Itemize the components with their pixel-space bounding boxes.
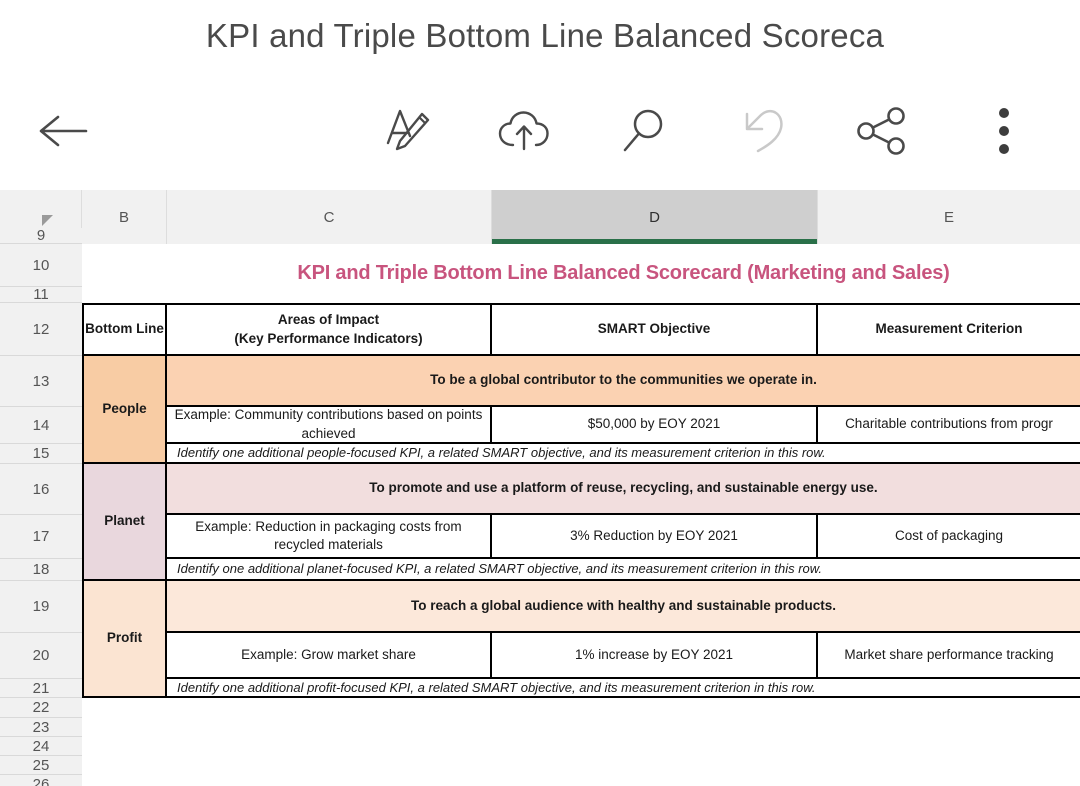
header-areas-of-impact[interactable]: Areas of Impact (Key Performance Indicat… [167, 303, 492, 356]
row-header-22[interactable]: 22 [0, 698, 82, 718]
row-header-14[interactable]: 14 [0, 407, 82, 444]
edit-text-icon [383, 105, 433, 157]
row-header-10[interactable]: 10 [0, 244, 82, 287]
kpi-planet[interactable]: Example: Reduction in packaging costs fr… [167, 515, 492, 559]
row-header-23[interactable]: 23 [0, 718, 82, 737]
toolbar [0, 72, 1080, 190]
column-header-e[interactable]: E [818, 190, 1080, 244]
select-all-triangle-icon [42, 215, 53, 226]
objective-profit[interactable]: To reach a global audience with healthy … [167, 581, 1080, 633]
note-planet[interactable]: Identify one additional planet-focused K… [167, 559, 1080, 581]
row-header-13[interactable]: 13 [0, 356, 82, 407]
header-bottom-line[interactable]: Bottom Line [82, 303, 167, 356]
cloud-upload-icon [496, 107, 552, 155]
row-header-column: 9 10 11 12 13 14 15 16 17 18 19 20 21 22… [0, 244, 82, 786]
smart-planet[interactable]: 3% Reduction by EOY 2021 [492, 515, 818, 559]
row-header-17[interactable]: 17 [0, 515, 82, 559]
more-options-icon [997, 106, 1011, 156]
scorecard-title[interactable]: KPI and Triple Bottom Line Balanced Scor… [167, 244, 1080, 303]
row-header-20[interactable]: 20 [0, 633, 82, 679]
undo-icon [741, 106, 789, 156]
edit-button[interactable] [365, 72, 451, 190]
category-planet[interactable]: Planet [82, 464, 167, 581]
note-profit[interactable]: Identify one additional profit-focused K… [167, 679, 1080, 698]
column-header-d[interactable]: D [492, 190, 818, 244]
row-header-11[interactable]: 11 [0, 287, 82, 303]
row-header-12[interactable]: 12 [0, 303, 82, 356]
row-header-18[interactable]: 18 [0, 559, 82, 581]
spreadsheet: B C D E 9 10 11 12 13 14 15 16 17 18 19 … [0, 190, 1080, 786]
row-header-24[interactable]: 24 [0, 737, 82, 756]
header-smart-objective[interactable]: SMART Objective [492, 303, 818, 356]
header-areas-line1: Areas of Impact [278, 311, 379, 329]
share-icon [856, 106, 908, 156]
row-header-19[interactable]: 19 [0, 581, 82, 633]
header-areas-line2: (Key Performance Indicators) [234, 330, 422, 348]
criterion-planet[interactable]: Cost of packaging [818, 515, 1080, 559]
column-header-c[interactable]: C [167, 190, 492, 244]
kpi-people[interactable]: Example: Community contributions based o… [167, 407, 492, 444]
back-arrow-icon [36, 111, 90, 151]
header-measurement-criterion[interactable]: Measurement Criterion [818, 303, 1080, 356]
criterion-profit[interactable]: Market share performance tracking [818, 633, 1080, 679]
more-options-button[interactable] [961, 72, 1047, 190]
search-button[interactable] [601, 72, 687, 190]
objective-planet[interactable]: To promote and use a platform of reuse, … [167, 464, 1080, 515]
category-people[interactable]: People [82, 356, 167, 464]
objective-people[interactable]: To be a global contributor to the commun… [167, 356, 1080, 407]
category-profit[interactable]: Profit [82, 581, 167, 698]
undo-button[interactable] [722, 72, 808, 190]
smart-profit[interactable]: 1% increase by EOY 2021 [492, 633, 818, 679]
row-header-21[interactable]: 21 [0, 679, 82, 698]
grid-body: KPI and Triple Bottom Line Balanced Scor… [82, 244, 1080, 786]
app-header: KPI and Triple Bottom Line Balanced Scor… [0, 0, 1080, 72]
criterion-people[interactable]: Charitable contributions from progr [818, 407, 1080, 444]
cloud-upload-button[interactable] [481, 72, 567, 190]
row-header-15[interactable]: 15 [0, 444, 82, 464]
column-header-row: B C D E [0, 190, 1080, 244]
row-header-26[interactable]: 26 [0, 775, 82, 786]
back-button[interactable] [20, 72, 106, 190]
column-header-b[interactable]: B [82, 190, 167, 244]
kpi-profit[interactable]: Example: Grow market share [167, 633, 492, 679]
search-icon [619, 106, 669, 156]
row-header-16[interactable]: 16 [0, 464, 82, 515]
note-people[interactable]: Identify one additional people-focused K… [167, 444, 1080, 464]
row-header-9[interactable]: 9 [0, 228, 82, 244]
document-title: KPI and Triple Bottom Line Balanced Scor… [206, 17, 884, 55]
smart-people[interactable]: $50,000 by EOY 2021 [492, 407, 818, 444]
share-button[interactable] [839, 72, 925, 190]
row-header-25[interactable]: 25 [0, 756, 82, 775]
